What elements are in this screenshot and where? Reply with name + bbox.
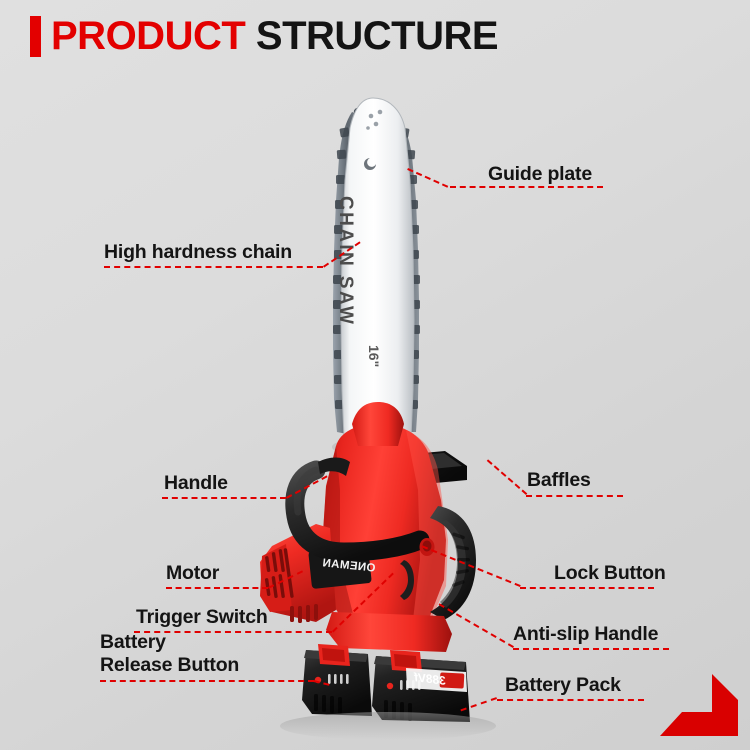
corner-arrow-decoration [660, 674, 738, 736]
leader-guide-plate [450, 186, 603, 188]
guide-bar-text: CHAIN SAW [334, 196, 356, 326]
leader-baffles [526, 495, 623, 497]
battery-pack-right [372, 650, 470, 722]
callout-baffles: Baffles [527, 469, 591, 491]
product-structure-infographic: PRODUCT STRUCTURE [0, 0, 750, 750]
leader-chain [104, 266, 323, 268]
callout-trigger-switch: Trigger Switch [136, 606, 268, 628]
callout-high-hardness-chain: High hardness chain [104, 241, 292, 263]
leader-battery-release [100, 680, 314, 682]
product-body [322, 402, 448, 630]
guide-bar-size-text: 16" [366, 345, 382, 367]
callout-handle: Handle [164, 472, 228, 494]
callout-lock-button: Lock Button [554, 562, 666, 584]
callout-guide-plate: Guide plate [488, 163, 592, 185]
callout-battery-pack: Battery Pack [505, 674, 621, 696]
callout-battery-release-button: Battery Release Button [100, 631, 239, 678]
leader-battery-pack [497, 699, 644, 701]
callout-anti-slip-handle: Anti-slip Handle [513, 623, 658, 645]
ground-shadow [280, 712, 496, 740]
callout-motor: Motor [166, 562, 219, 584]
leader-anti-slip-handle [513, 648, 669, 650]
leader-lock-button [520, 587, 654, 589]
leader-handle [162, 497, 286, 499]
leader-motor [166, 587, 268, 589]
